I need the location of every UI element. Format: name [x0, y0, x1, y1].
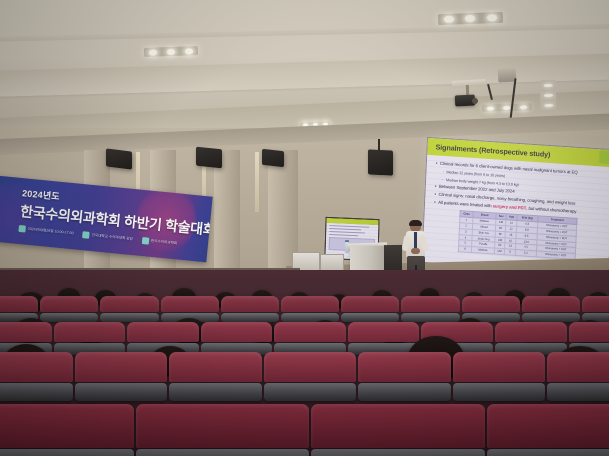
bullet-icon: ▪ — [436, 160, 438, 166]
seat-back — [487, 404, 609, 448]
seat-tray-table — [75, 383, 168, 401]
seat-tray-table — [221, 313, 279, 322]
seat-tray-table — [487, 449, 609, 456]
seat-back — [311, 404, 485, 448]
slide-body: ▪ Clinical records for 6 client-owned do… — [422, 155, 609, 274]
seat-tray-table — [136, 449, 310, 456]
ceiling-seam — [0, 23, 609, 42]
ceiling-beam-1 — [0, 53, 609, 97]
presenter-tie — [414, 232, 417, 248]
seat — [75, 352, 168, 401]
seat-tray-table — [311, 449, 485, 456]
seat-back — [201, 322, 273, 342]
slide-data-table: Case Breed Sex Age B.W (kg) Treatment 1 … — [458, 210, 578, 259]
banner-info-label: 한국수의외과학회 — [151, 239, 178, 247]
seat-back — [281, 296, 339, 312]
bullet-text-pre: All patients were treated with — [438, 200, 493, 209]
presenter-hands — [411, 248, 420, 254]
projection-screen: Signalments (Retrospective study) ▪ Clin… — [421, 137, 609, 275]
seat-back — [0, 404, 134, 448]
seat-tray-table — [0, 383, 73, 401]
wall-light-slot — [255, 152, 259, 212]
seat-back — [522, 296, 580, 312]
bullet-icon: · — [442, 169, 444, 175]
slide-corner-logo — [599, 150, 609, 164]
seat-back — [341, 296, 399, 312]
seat — [201, 322, 273, 355]
seat-row-mid — [0, 322, 609, 355]
seat-back — [0, 296, 38, 312]
seat-back — [582, 296, 609, 312]
seat-back — [264, 352, 357, 382]
seat-tray-table — [522, 313, 580, 322]
seat — [40, 296, 98, 322]
recessed-light-icon — [144, 46, 198, 57]
bullet-text-post: , but without chemotherapy — [526, 206, 576, 214]
seat-back — [75, 352, 168, 382]
seat-back — [161, 296, 219, 312]
seat — [522, 296, 580, 322]
seat-back — [348, 322, 420, 342]
bullet-icon: ▪ — [434, 200, 436, 206]
seat-back — [136, 404, 310, 448]
organization-icon — [142, 237, 150, 245]
banner-info-item: 2024년09월29일 10:00-17:00 — [18, 225, 74, 237]
projector-mount-plate — [452, 79, 486, 88]
table-body: 1 Maltese CM 14 4.3 Rhinotomy + PDT 2 Mi… — [458, 217, 576, 259]
wall-speaker-icon — [262, 149, 284, 167]
seat-tray-table — [100, 313, 158, 322]
seat-back — [274, 322, 346, 342]
banner-info-item: 한국수의외과학회 — [142, 237, 178, 247]
seat-back — [358, 352, 451, 382]
bullet-icon: ▪ — [435, 183, 437, 189]
seat — [274, 322, 346, 355]
seat — [0, 352, 73, 401]
seat-back — [462, 296, 520, 312]
lecture-hall-photo: 2024년도 한국수의외과학회 하반기 학술대회 2024년09월29일 10:… — [0, 0, 609, 456]
seat-tray-table — [358, 383, 451, 401]
banner-info-label: 2024년09월29일 10:00-17:00 — [27, 227, 73, 236]
seat — [453, 352, 546, 401]
seat-row-near — [0, 352, 609, 401]
seat — [341, 296, 399, 322]
seat — [582, 296, 609, 322]
seat-tray-table — [547, 383, 609, 401]
seat-back — [169, 352, 262, 382]
monitor-text-line — [329, 234, 358, 236]
table-cell: 5.4 — [515, 250, 536, 257]
seat-tray-table — [169, 383, 262, 401]
wall-speaker-icon — [368, 149, 393, 175]
seat-tray-table — [453, 383, 546, 401]
seat-back — [54, 322, 126, 342]
seat-tray-table — [0, 449, 134, 456]
seat-back — [0, 322, 52, 342]
seat — [401, 296, 459, 322]
table-cell: Maltese — [471, 247, 494, 254]
seat-back — [495, 322, 567, 342]
seat-tray-table — [341, 313, 399, 322]
bullet-icon: ▪ — [434, 192, 436, 198]
calendar-icon — [18, 225, 26, 233]
location-icon — [82, 231, 90, 239]
table-cell: 6 — [458, 246, 471, 253]
banner-info-item: 건국대학교 수의과대학 강당 — [82, 231, 133, 243]
seat — [487, 404, 609, 456]
seat-row-far — [0, 296, 609, 322]
wall-pillar — [214, 150, 240, 272]
seat-back — [0, 352, 73, 382]
seat — [136, 404, 310, 456]
seat-back — [221, 296, 279, 312]
table-cell: 6 — [505, 249, 516, 255]
seat — [358, 352, 451, 401]
seat — [311, 404, 485, 456]
wall-speaker-icon — [196, 147, 222, 169]
banner-info-label: 건국대학교 수의과대학 강당 — [91, 233, 133, 242]
wall-speaker-icon — [106, 148, 132, 169]
seat — [547, 352, 609, 401]
seat-row-front — [0, 404, 609, 456]
seat — [169, 352, 262, 401]
seat — [221, 296, 279, 322]
seat — [54, 322, 126, 355]
seat-back — [127, 322, 199, 342]
seat — [0, 404, 134, 456]
recessed-light-icon — [438, 12, 503, 25]
seat-back — [569, 322, 609, 342]
seat-tray-table — [401, 313, 459, 322]
presenter-hair — [409, 220, 422, 226]
seat-tray-table — [40, 313, 98, 322]
seat-back — [100, 296, 158, 312]
bullet-icon: · — [442, 176, 444, 182]
table-cell: CM — [494, 248, 504, 254]
seat — [264, 352, 357, 401]
seat — [281, 296, 339, 322]
seat-back — [40, 296, 98, 312]
monitor-text-line — [329, 228, 361, 231]
projector-lens-icon — [472, 98, 478, 104]
seat — [495, 322, 567, 355]
recessed-light-icon — [539, 80, 556, 111]
seat-tray-table — [264, 383, 357, 401]
seat-back — [401, 296, 459, 312]
seat-back — [453, 352, 546, 382]
seat-back — [547, 352, 609, 382]
seat — [100, 296, 158, 322]
bullet-highlight: surgery and PDT — [493, 204, 527, 211]
monitor-text-line — [329, 231, 365, 234]
